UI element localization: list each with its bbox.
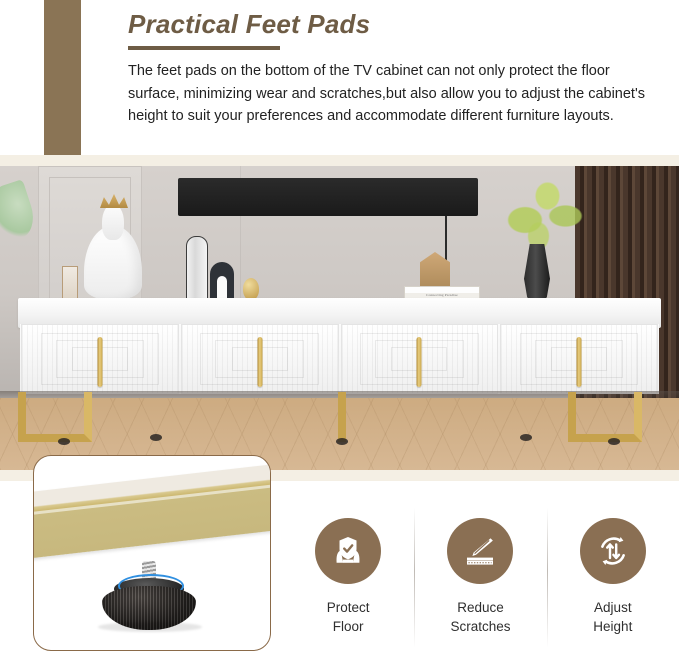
door-handle [97,337,102,387]
cream-divider-top [0,155,679,166]
decor-black-arch [210,262,234,300]
decor-gold-egg [243,278,259,300]
shield-hands-icon [315,518,381,584]
tv-screen [178,178,478,216]
feet-pad-detail-inset [33,455,271,651]
description-paragraph: The feet pads on the bottom of the TV ca… [128,50,664,128]
feature-adjust-height: Adjust Height [547,500,679,660]
gold-frame-bar [33,461,271,561]
cabinet-door [181,324,339,394]
cabinet-leg [18,392,92,442]
feature-label: Adjust Height [593,598,632,636]
door-handle [577,337,582,387]
leg-foot-pad [520,434,532,441]
decor-branch-foliage [498,172,588,252]
header-section: Practical Feet Pads The feet pads on the… [0,0,679,160]
foot-pad-shadow [98,622,202,632]
decor-candle-holder [62,266,78,300]
cabinet-door [21,324,179,394]
feature-label: Reduce Scratches [450,598,510,636]
accent-bar [44,0,81,155]
leg-foot-pad [608,438,620,445]
cabinet-doors [20,324,659,394]
cabinet-door [341,324,499,394]
cabinet-leg [568,392,642,442]
lifestyle-photo: Connecting Paradise [0,166,679,470]
product-feature-page: Practical Feet Pads The feet pads on the… [0,0,679,660]
feature-label: Protect Floor [327,598,370,636]
feature-protect-floor: Protect Floor [282,500,414,660]
feature-badge-row: Protect Floor Reduce Scratches [282,500,679,660]
cabinet-door [500,324,658,394]
cabinet-leg [338,392,346,442]
height-arrows-icon [580,518,646,584]
pendant-cord [445,216,447,261]
door-handle [257,337,262,387]
feature-reduce-scratches: Reduce Scratches [414,500,546,660]
door-handle [417,337,422,387]
leg-foot-pad [58,438,70,445]
plank-sanding-icon [447,518,513,584]
leg-foot-pad [336,438,348,445]
decor-bust-head [102,204,124,240]
header-text-block: Practical Feet Pads The feet pads on the… [128,0,673,128]
decor-arch-object [186,236,208,300]
page-title: Practical Feet Pads [128,0,673,40]
leg-foot-pad [150,434,162,441]
